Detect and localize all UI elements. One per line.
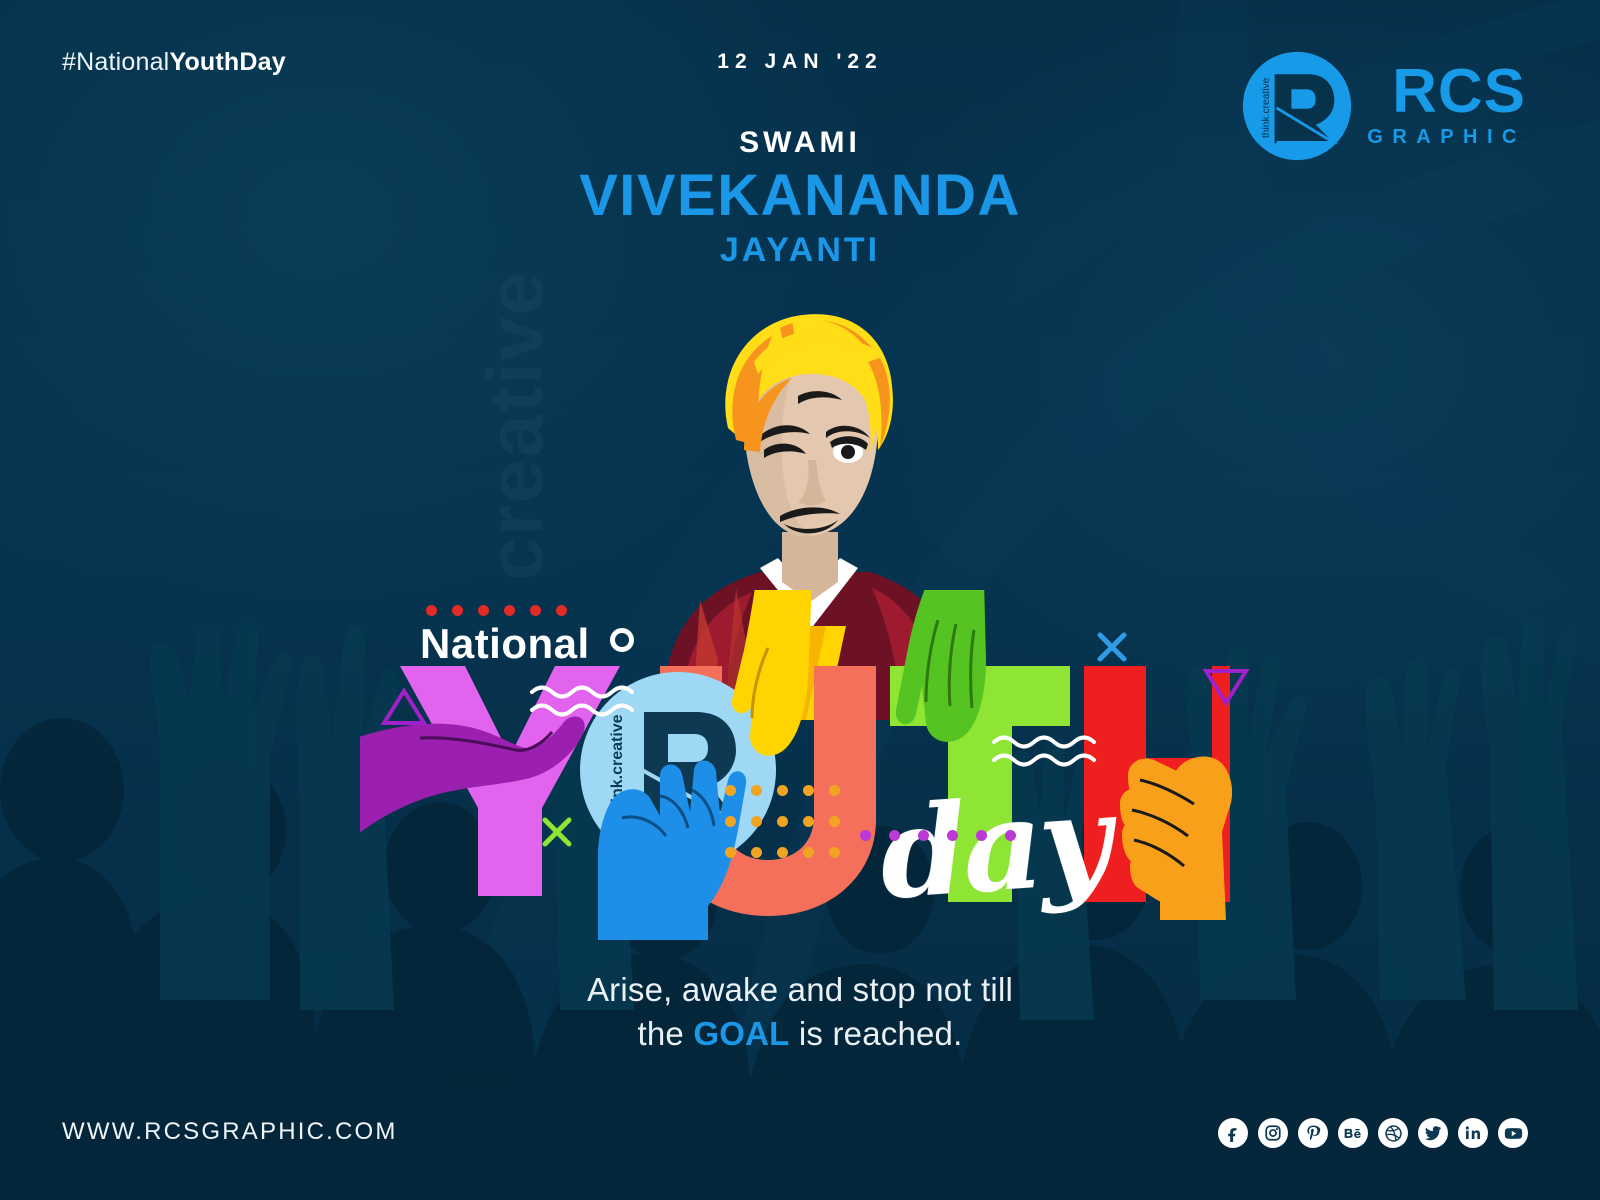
poster-canvas: creative [0, 0, 1600, 1200]
instagram-icon[interactable] [1258, 1118, 1288, 1148]
dribbble-icon[interactable] [1378, 1118, 1408, 1148]
quote-prefix: the [638, 1015, 694, 1052]
hand-yellow-icon [732, 590, 812, 756]
orange-dot-grid-decoration [725, 785, 855, 858]
twitter-icon[interactable] [1418, 1118, 1448, 1148]
quote-text: Arise, awake and stop not till the GOAL … [0, 968, 1600, 1056]
quote-goal-word: GOAL [693, 1015, 789, 1052]
hand-blue-icon [598, 760, 746, 940]
logo-subtitle-text: GRAPHIC [1367, 126, 1526, 149]
rcs-logo[interactable]: think.creative RCS GRAPHIC [1241, 50, 1526, 162]
logo-brand-text: RCS [1392, 63, 1526, 122]
purple-dots-decoration [860, 830, 1016, 841]
pinterest-icon[interactable] [1298, 1118, 1328, 1148]
behance-icon[interactable] [1338, 1118, 1368, 1148]
social-links-bar[interactable] [1218, 1118, 1528, 1148]
linkedin-icon[interactable] [1458, 1118, 1488, 1148]
triangle-down-outline-decoration [1202, 665, 1250, 709]
quote-suffix: is reached. [789, 1015, 962, 1052]
website-url[interactable]: WWW.RCSGRAPHIC.COM [62, 1118, 398, 1146]
triangle-outline-decoration [380, 685, 428, 729]
facebook-icon[interactable] [1218, 1118, 1248, 1148]
day-circle-outline-decoration [1062, 842, 1079, 859]
title-line-vivekananda: VIVEKANANDA [0, 164, 1600, 229]
x-mark-green-decoration [540, 815, 574, 849]
logo-mark-tagline: think.creative [1261, 77, 1272, 138]
hand-green-icon [896, 590, 986, 742]
hand-orange-icon [1120, 756, 1232, 920]
youth-day-lockup: National think.creative [370, 590, 1230, 940]
quote-line-2: the GOAL is reached. [0, 1012, 1600, 1056]
x-mark-blue-decoration [1095, 630, 1129, 664]
logo-wordmark: RCS GRAPHIC [1367, 63, 1526, 149]
quote-line-1: Arise, awake and stop not till [0, 968, 1600, 1012]
rcs-r-mark-icon: think.creative [1241, 50, 1353, 162]
title-line-jayanti: JAYANTI [0, 231, 1600, 270]
wavy-line-decoration-left [528, 680, 648, 724]
youtube-icon[interactable] [1498, 1118, 1528, 1148]
